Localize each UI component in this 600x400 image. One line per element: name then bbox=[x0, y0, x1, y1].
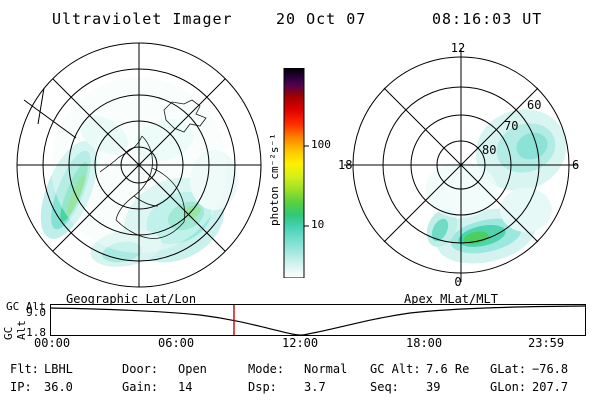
colorbar: 100 10 bbox=[278, 68, 332, 278]
timeline-xtick-3: 18:00 bbox=[406, 336, 442, 350]
apex-mlt-lines bbox=[344, 48, 578, 282]
footer-ip-label: IP: bbox=[10, 380, 32, 394]
mlt-label-6: 6 bbox=[572, 158, 579, 172]
mlat-label-70: 70 bbox=[504, 119, 518, 133]
meridian-lines bbox=[17, 43, 261, 287]
geographic-panel bbox=[14, 40, 264, 290]
footer-glat-value: −76.8 bbox=[532, 362, 568, 376]
footer-glon-value: 207.7 bbox=[532, 380, 568, 394]
mlt-label-12: 12 bbox=[451, 41, 465, 55]
apex-panel: 12 18 6 0 60 70 80 bbox=[336, 40, 586, 290]
footer-glon-label: GLon: bbox=[490, 380, 526, 394]
footer-dsp-value: 3.7 bbox=[304, 380, 326, 394]
mlat-label-80: 80 bbox=[482, 143, 496, 157]
footer-gcalt-label: GC Alt: bbox=[370, 362, 421, 376]
colorbar-tick-10: 10 bbox=[311, 218, 324, 231]
mlt-label-0: 0 bbox=[454, 275, 461, 289]
timeline-plot[interactable] bbox=[50, 304, 586, 336]
timeline-xtick-1: 06:00 bbox=[158, 336, 194, 350]
page-title: Ultraviolet Imager bbox=[52, 10, 233, 28]
footer-glat-label: GLat: bbox=[490, 362, 526, 376]
header: Ultraviolet Imager 20 Oct 07 08:16:03 UT bbox=[0, 8, 600, 30]
mlat-label-60: 60 bbox=[527, 98, 541, 112]
footer-door-value: Open bbox=[178, 362, 207, 376]
timeline-xtick-0: 00:00 bbox=[34, 336, 70, 350]
footer-flt-value: LBHL bbox=[44, 362, 73, 376]
footer-mode-value: Normal bbox=[304, 362, 347, 376]
apex-aurora-image bbox=[421, 97, 578, 272]
footer-gain-label: Gain: bbox=[122, 380, 158, 394]
geographic-aurora-image bbox=[29, 77, 238, 278]
footer-gain-value: 14 bbox=[178, 380, 192, 394]
footer-dsp-label: Dsp: bbox=[248, 380, 277, 394]
footer-status: Flt: LBHL Door: Open Mode: Normal GC Alt… bbox=[0, 362, 600, 400]
footer-seq-value: 39 bbox=[426, 380, 440, 394]
footer-mode-label: Mode: bbox=[248, 362, 284, 376]
timeline-xtick-2: 12:00 bbox=[282, 336, 318, 350]
mlt-label-18: 18 bbox=[338, 158, 352, 172]
header-time: 08:16:03 UT bbox=[432, 10, 542, 28]
footer-seq-label: Seq: bbox=[370, 380, 399, 394]
footer-door-label: Door: bbox=[122, 362, 158, 376]
footer-gcalt-value: 7.6 Re bbox=[426, 362, 469, 376]
timeline-xtick-4: 23:59 bbox=[528, 336, 564, 350]
footer-flt-label: Flt: bbox=[10, 362, 39, 376]
footer-ip-value: 36.0 bbox=[44, 380, 73, 394]
colorbar-tick-100: 100 bbox=[311, 138, 331, 151]
timeline-xaxis: 00:00 06:00 12:00 18:00 23:59 bbox=[0, 336, 600, 352]
header-date: 20 Oct 07 bbox=[276, 10, 366, 28]
timeline-ytick-top: 9.0 bbox=[18, 306, 46, 319]
